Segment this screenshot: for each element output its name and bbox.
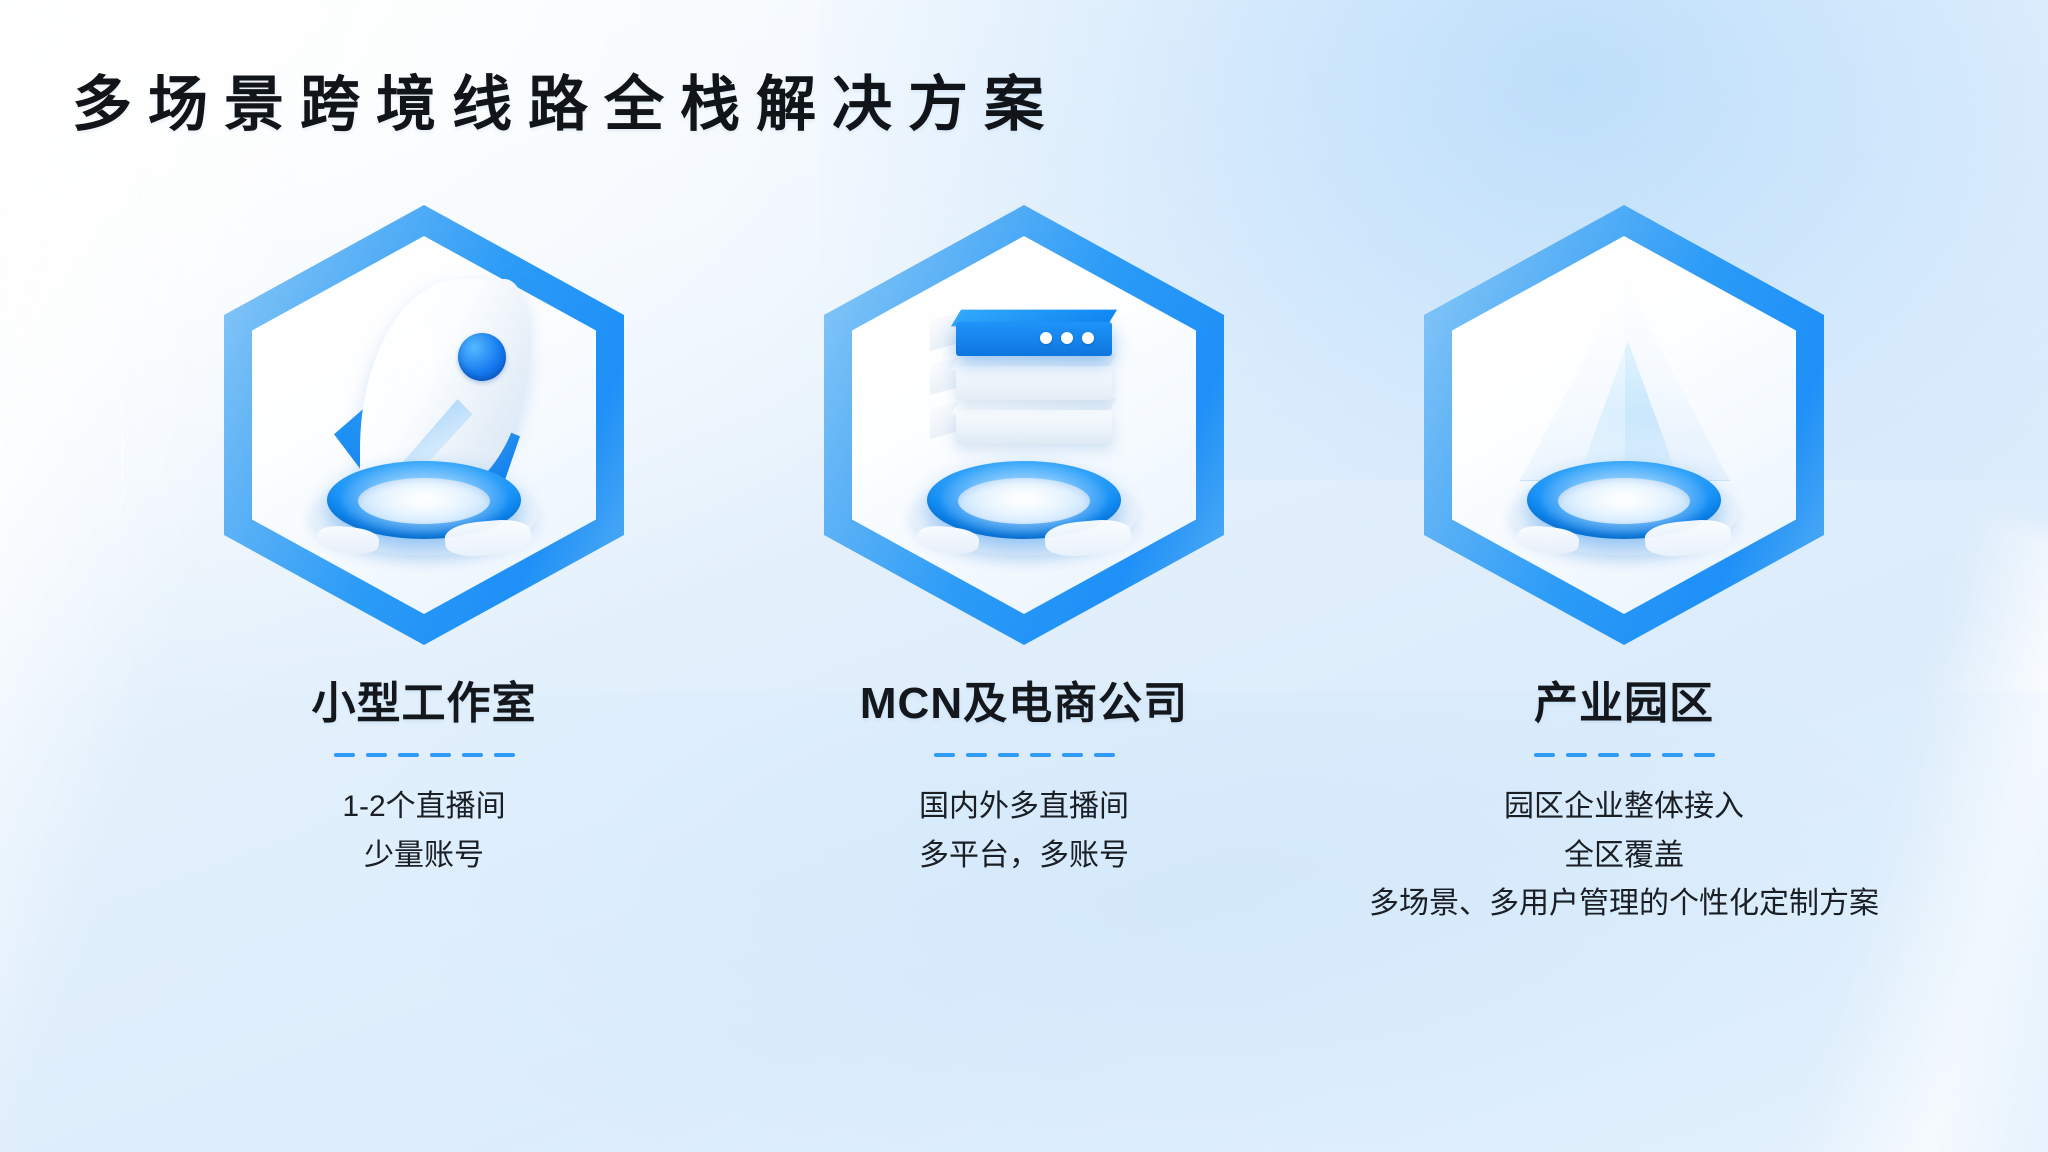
divider-dash	[1566, 753, 1587, 757]
divider-dash	[1694, 753, 1715, 757]
divider-dash	[1094, 753, 1115, 757]
server-layer-top	[956, 303, 1112, 357]
card-title: MCN及电商公司	[860, 667, 1188, 731]
dashed-divider	[334, 753, 515, 757]
divider-dash	[398, 753, 419, 757]
card-description: 1-2个直播间 少量账号	[342, 783, 505, 880]
page-title: 多场景跨境线路全栈解决方案	[72, 56, 1060, 143]
solution-card-small-studio[interactable]: 小型工作室 1-2个直播间 少量账号	[124, 205, 724, 880]
divider-dash	[934, 753, 955, 757]
card-description-line: 多平台，多账号	[919, 832, 1129, 881]
hexagon-badge-2	[824, 205, 1224, 645]
divider-dash	[462, 753, 483, 757]
card-title: 小型工作室	[312, 667, 537, 731]
glow-ring-base	[911, 461, 1137, 557]
divider-dash	[966, 753, 987, 757]
card-description-line: 多场景、多用户管理的个性化定制方案	[1369, 880, 1879, 929]
divider-dash	[334, 753, 355, 757]
glow-ring-base	[1511, 461, 1737, 557]
server-layer-front-face	[956, 366, 1112, 400]
divider-dash	[1062, 753, 1083, 757]
card-description-line: 园区企业整体接入	[1369, 783, 1879, 832]
divider-dash	[1662, 753, 1683, 757]
divider-dash	[1630, 753, 1651, 757]
divider-dash	[1030, 753, 1051, 757]
pyramid-icon	[1474, 275, 1774, 575]
rocket-icon	[274, 275, 574, 575]
server-status-dots-icon	[1040, 332, 1094, 344]
card-description-line: 全区覆盖	[1369, 832, 1879, 881]
divider-dash	[430, 753, 451, 757]
divider-dash	[1534, 753, 1555, 757]
dashed-divider	[1534, 753, 1715, 757]
card-description-line: 国内外多直播间	[919, 783, 1129, 832]
server-stack-icon	[874, 275, 1174, 575]
solution-card-industrial-park[interactable]: 产业园区 园区企业整体接入 全区覆盖 多场景、多用户管理的个性化定制方案	[1324, 205, 1924, 929]
hexagon-badge-3	[1424, 205, 1824, 645]
hexagon-badge-1	[224, 205, 624, 645]
rocket-window-icon	[458, 333, 506, 381]
solution-card-mcn-ecommerce[interactable]: MCN及电商公司 国内外多直播间 多平台，多账号	[724, 205, 1324, 880]
dashed-divider	[934, 753, 1115, 757]
card-title: 产业园区	[1534, 667, 1714, 731]
card-description: 园区企业整体接入 全区覆盖 多场景、多用户管理的个性化定制方案	[1369, 783, 1879, 929]
glow-ring-base	[311, 461, 537, 557]
divider-dash	[494, 753, 515, 757]
card-description: 国内外多直播间 多平台，多账号	[919, 783, 1129, 880]
divider-dash	[998, 753, 1019, 757]
card-description-line: 1-2个直播间	[342, 783, 505, 832]
divider-dash	[1598, 753, 1619, 757]
solution-card-row: 小型工作室 1-2个直播间 少量账号	[0, 205, 2048, 929]
card-description-line: 少量账号	[342, 832, 505, 881]
server-layer-front-face	[956, 410, 1112, 444]
pyramid-edge-highlight	[1520, 281, 1730, 481]
divider-dash	[366, 753, 387, 757]
